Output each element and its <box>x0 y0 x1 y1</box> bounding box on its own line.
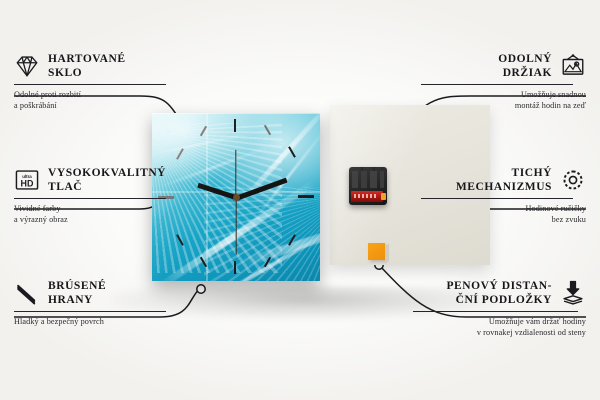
feature-title: TICHÝ MECHANIZMUS <box>456 166 552 194</box>
feature-head: ultra HD VYSOKOKVALITNÝ TLAČ <box>14 166 179 194</box>
feature-desc-line1: Umožňuje vám držať hodiny <box>489 317 586 326</box>
feature-divider <box>421 198 573 199</box>
feature-description: Vividné farby a výrazný obraz <box>14 203 179 225</box>
feature-description: Umožňuje vám držať hodiny v rovnakej vzd… <box>413 316 586 338</box>
feature-title-line1: TICHÝ <box>512 167 552 179</box>
ultra-hd-icon: ultra HD <box>14 167 40 193</box>
feature-high-quality-print: ultra HD VYSOKOKVALITNÝ TLAČ Vividné far… <box>14 166 179 225</box>
feature-divider <box>421 84 573 85</box>
foam-spacer-pad <box>368 243 385 260</box>
feature-desc-line2: v rovnakej vzdialenosti od steny <box>477 328 586 337</box>
feature-description: Hodinové ručičky bez zvuku <box>421 203 586 225</box>
feature-desc-line2: a poškrábání <box>14 101 57 110</box>
battery-label <box>354 194 376 198</box>
feature-head: PENOVÝ DISTAN- ČNÍ PODLOŽKY <box>413 279 586 307</box>
feature-description: Hladký a bezpečný povrch <box>14 316 179 327</box>
feature-desc-line2: a výrazný obraz <box>14 215 68 224</box>
feature-divider <box>14 84 166 85</box>
feature-foam-spacers: PENOVÝ DISTAN- ČNÍ PODLOŽKY Umožňuje vám… <box>413 279 586 338</box>
feature-description: Umožňuje snadnou montáž hodin na zeď <box>421 89 586 111</box>
feature-title-line1: PENOVÝ DISTAN- <box>446 280 552 292</box>
feature-desc-line2: bez zvuku <box>552 215 586 224</box>
feature-description: Odolné proti rozbití a poškrábání <box>14 89 179 111</box>
polished-edges-icon <box>14 280 40 306</box>
feature-silent-mechanism: TICHÝ MECHANIZMUS Hodinové ručičky bez z… <box>421 166 586 225</box>
feature-title-line2: SKLO <box>48 67 82 79</box>
feature-title: HARTOVANÉ SKLO <box>48 52 126 80</box>
feature-title-line2: DRŽIAK <box>503 67 552 79</box>
feature-title-line1: BRÚSENÉ <box>48 280 106 292</box>
feature-tempered-glass: HARTOVANÉ SKLO Odolné proti rozbití a po… <box>14 52 179 111</box>
feature-head: BRÚSENÉ HRANY <box>14 279 179 307</box>
mechanism-grid <box>352 171 384 188</box>
feature-title: BRÚSENÉ HRANY <box>48 279 106 307</box>
diamond-icon <box>14 53 40 79</box>
gear-icon <box>560 167 586 193</box>
picture-frame-hanging-icon <box>560 53 586 79</box>
feature-title-line2: TLAČ <box>48 181 82 193</box>
feature-title: ODOLNÝ DRŽIAK <box>498 52 552 80</box>
feature-title: VYSOKOKVALITNÝ TLAČ <box>48 166 166 194</box>
feature-polished-edges: BRÚSENÉ HRANY Hladký a bezpečný povrch <box>14 279 179 327</box>
feature-title-line2: ČNÍ PODLOŽKY <box>456 294 552 306</box>
feature-durable-holder: ODOLNÝ DRŽIAK Umožňuje snadnou montáž ho… <box>421 52 586 111</box>
feature-head: HARTOVANÉ SKLO <box>14 52 179 80</box>
battery <box>351 191 383 202</box>
feature-desc-line1: Umožňuje snadnou <box>521 90 586 99</box>
feature-title: PENOVÝ DISTAN- ČNÍ PODLOŽKY <box>446 279 552 307</box>
feature-desc-line1: Odolné proti rozbití <box>14 90 81 99</box>
feature-desc-line2: montáž hodin na zeď <box>515 101 586 110</box>
feature-title-line2: HRANY <box>48 294 93 306</box>
feature-title-line2: MECHANIZMUS <box>456 181 552 193</box>
feature-title-line1: ODOLNÝ <box>498 53 552 65</box>
feature-desc-line1: Hladký a bezpečný povrch <box>14 317 104 326</box>
infographic-stage: HARTOVANÉ SKLO Odolné proti rozbití a po… <box>0 0 600 400</box>
feature-divider <box>14 198 166 199</box>
feature-divider <box>14 311 166 312</box>
feature-title-line1: HARTOVANÉ <box>48 53 126 65</box>
feature-head: ODOLNÝ DRŽIAK <box>421 52 586 80</box>
press-down-layers-icon <box>560 280 586 306</box>
svg-text:HD: HD <box>21 179 34 189</box>
feature-head: TICHÝ MECHANIZMUS <box>421 166 586 194</box>
feature-divider <box>413 311 578 312</box>
feature-desc-line1: Vividné farby <box>14 204 61 213</box>
feature-title-line1: VYSOKOKVALITNÝ <box>48 167 166 179</box>
clock-mechanism <box>349 167 387 205</box>
feature-desc-line1: Hodinové ručičky <box>526 204 587 213</box>
